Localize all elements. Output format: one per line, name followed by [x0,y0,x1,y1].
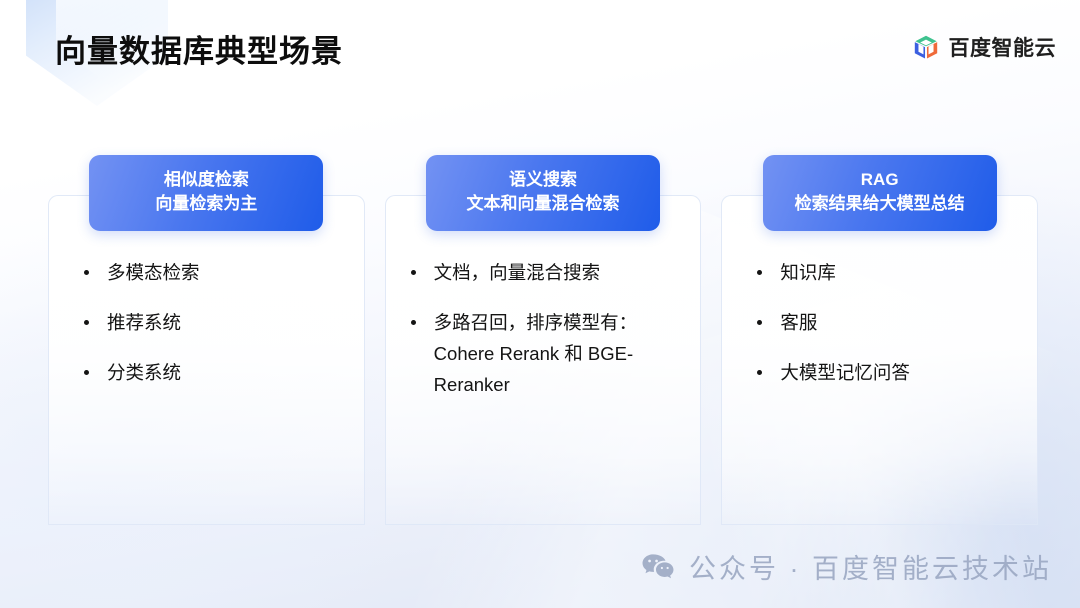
list-item: 分类系统 [78,357,351,388]
list-item: 大模型记忆问答 [751,357,1024,388]
scenario-card-similarity[interactable]: 相似度检索 向量检索为主 多模态检索 推荐系统 分类系统 [48,195,365,525]
card-header-pill: RAG 检索结果给大模型总结 [763,155,997,231]
list-item: 多模态检索 [78,257,351,288]
scenario-card-rag[interactable]: RAG 检索结果给大模型总结 知识库 客服 大模型记忆问答 [721,195,1038,525]
footer-watermark: 公众号 · 百度智能云技术站 [641,547,1052,586]
list-item: 推荐系统 [78,307,351,338]
scenario-card-semantic-search[interactable]: 语义搜索 文本和向量混合检索 文档，向量混合搜索 多路召回，排序模型有： Coh… [385,195,702,525]
card-header-pill: 语义搜索 文本和向量混合检索 [426,155,660,231]
brand-logo: 百度智能云 [912,32,1057,62]
page-title: 向量数据库典型场景 [55,26,343,71]
card-header-pill: 相似度检索 向量检索为主 [89,155,323,231]
wechat-icon [641,552,675,582]
card-item-list: 知识库 客服 大模型记忆问答 [721,257,1038,407]
card-title-line1: RAG [773,168,987,192]
list-item: 多路召回，排序模型有： Cohere Rerank 和 BGE-Reranker [405,307,688,400]
scenario-card-group: 相似度检索 向量检索为主 多模态检索 推荐系统 分类系统 语义搜索 文本和向量混… [48,195,1038,525]
baidu-cloud-cube-icon [912,33,940,61]
card-item-list: 文档，向量混合搜索 多路召回，排序模型有： Cohere Rerank 和 BG… [385,257,702,419]
watermark-text: 公众号 · 百度智能云技术站 [689,547,1052,586]
brand-name: 百度智能云 [949,32,1057,62]
card-title-line1: 语义搜索 [436,168,650,192]
card-item-list: 多模态检索 推荐系统 分类系统 [48,257,365,407]
card-title-line2: 向量检索为主 [99,192,313,216]
card-title-line2: 检索结果给大模型总结 [773,192,987,216]
list-item: 文档，向量混合搜索 [405,257,688,288]
slide-root: 向量数据库典型场景 百度智能云 相似度检索 向量检索为主 多模态检索 推荐系统 … [0,0,1080,608]
card-title-line2: 文本和向量混合检索 [436,192,650,216]
card-title-line1: 相似度检索 [99,168,313,192]
list-item: 知识库 [751,257,1024,288]
list-item: 客服 [751,307,1024,338]
